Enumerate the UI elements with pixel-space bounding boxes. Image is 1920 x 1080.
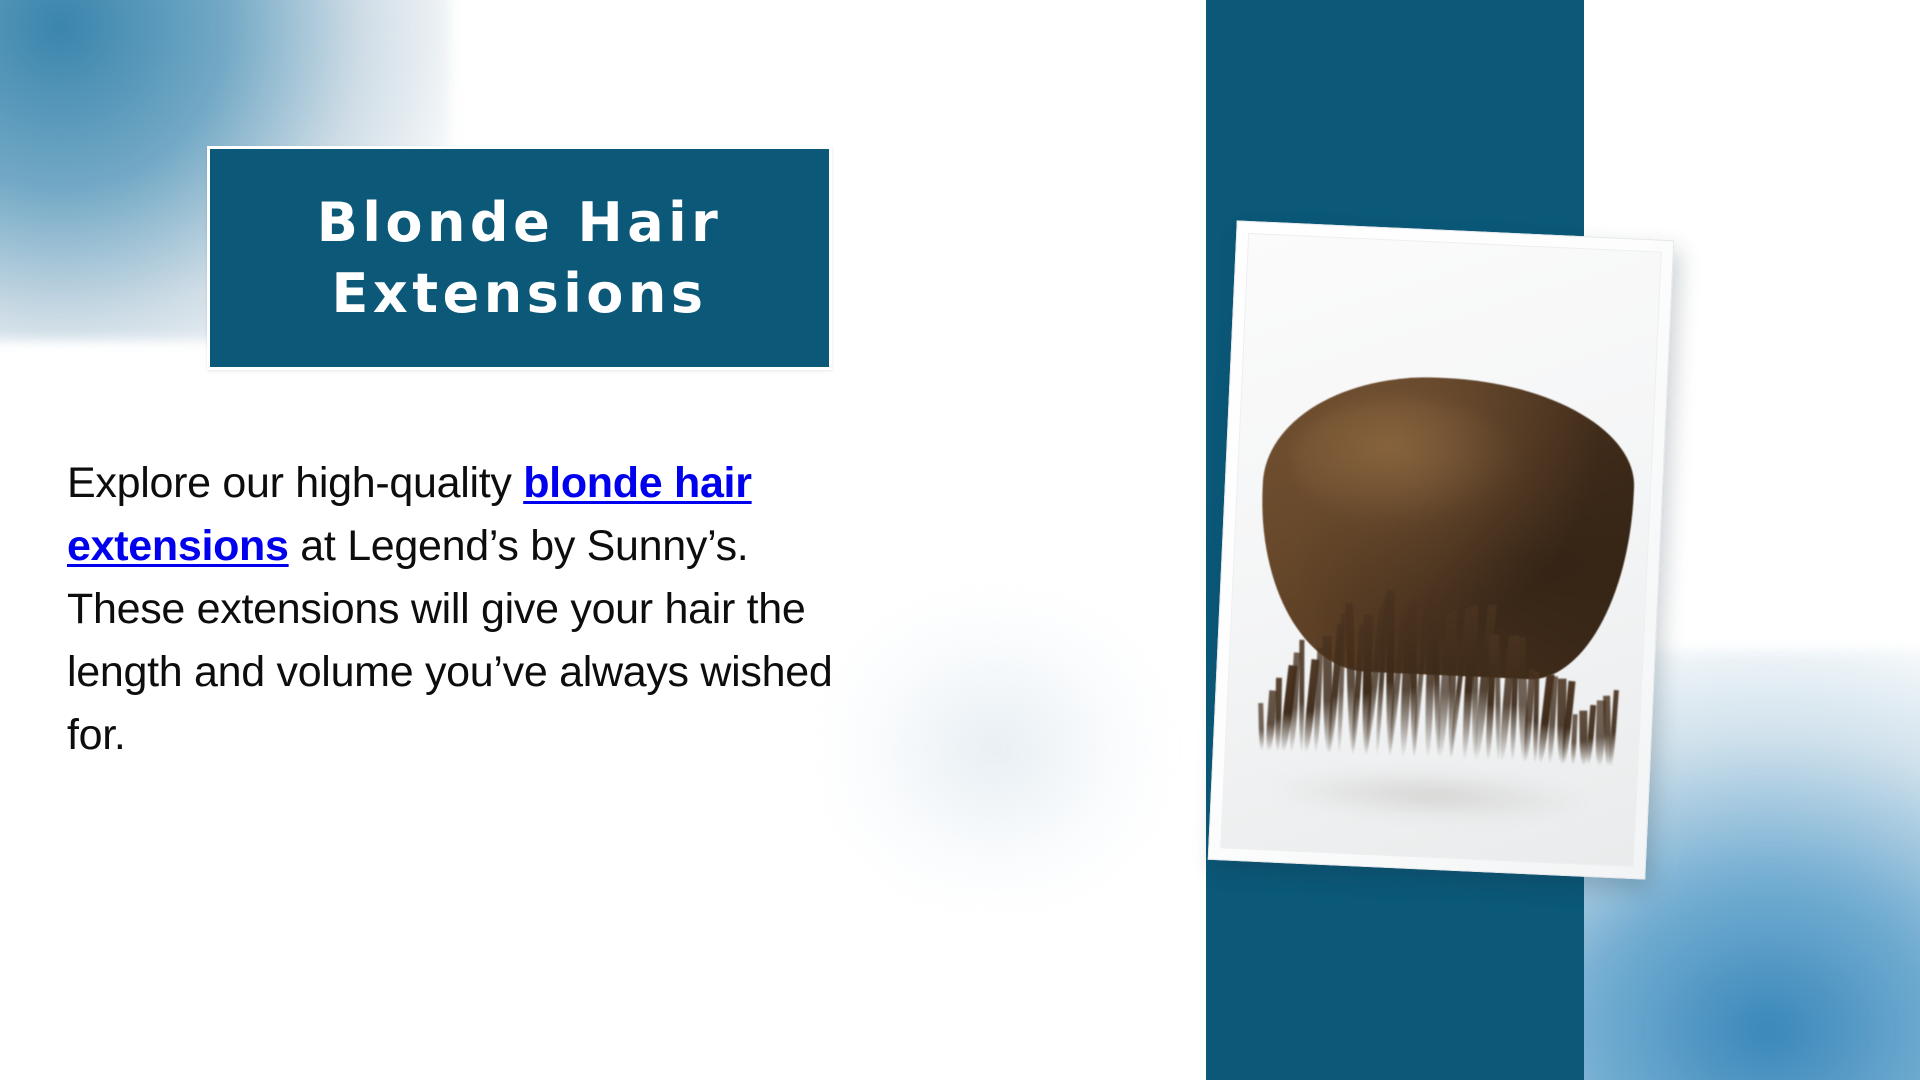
- page-title: Blonde Hair Extensions: [301, 187, 739, 330]
- product-photo-frame: [1208, 220, 1675, 879]
- hair-strands: [1250, 568, 1629, 767]
- photo-shadow: [1272, 764, 1587, 827]
- body-text-before-link: Explore our high-quality: [67, 459, 523, 507]
- product-photo: [1220, 233, 1662, 867]
- hair-extension-graphic: [1250, 370, 1638, 767]
- title-block: Blonde Hair Extensions: [207, 146, 832, 370]
- slide-canvas: Blonde Hair Extensions Explore our high-…: [0, 0, 1920, 1080]
- body-paragraph: Explore our high-quality blonde hair ext…: [67, 452, 877, 767]
- background-gradient-mid-left: [830, 600, 1160, 900]
